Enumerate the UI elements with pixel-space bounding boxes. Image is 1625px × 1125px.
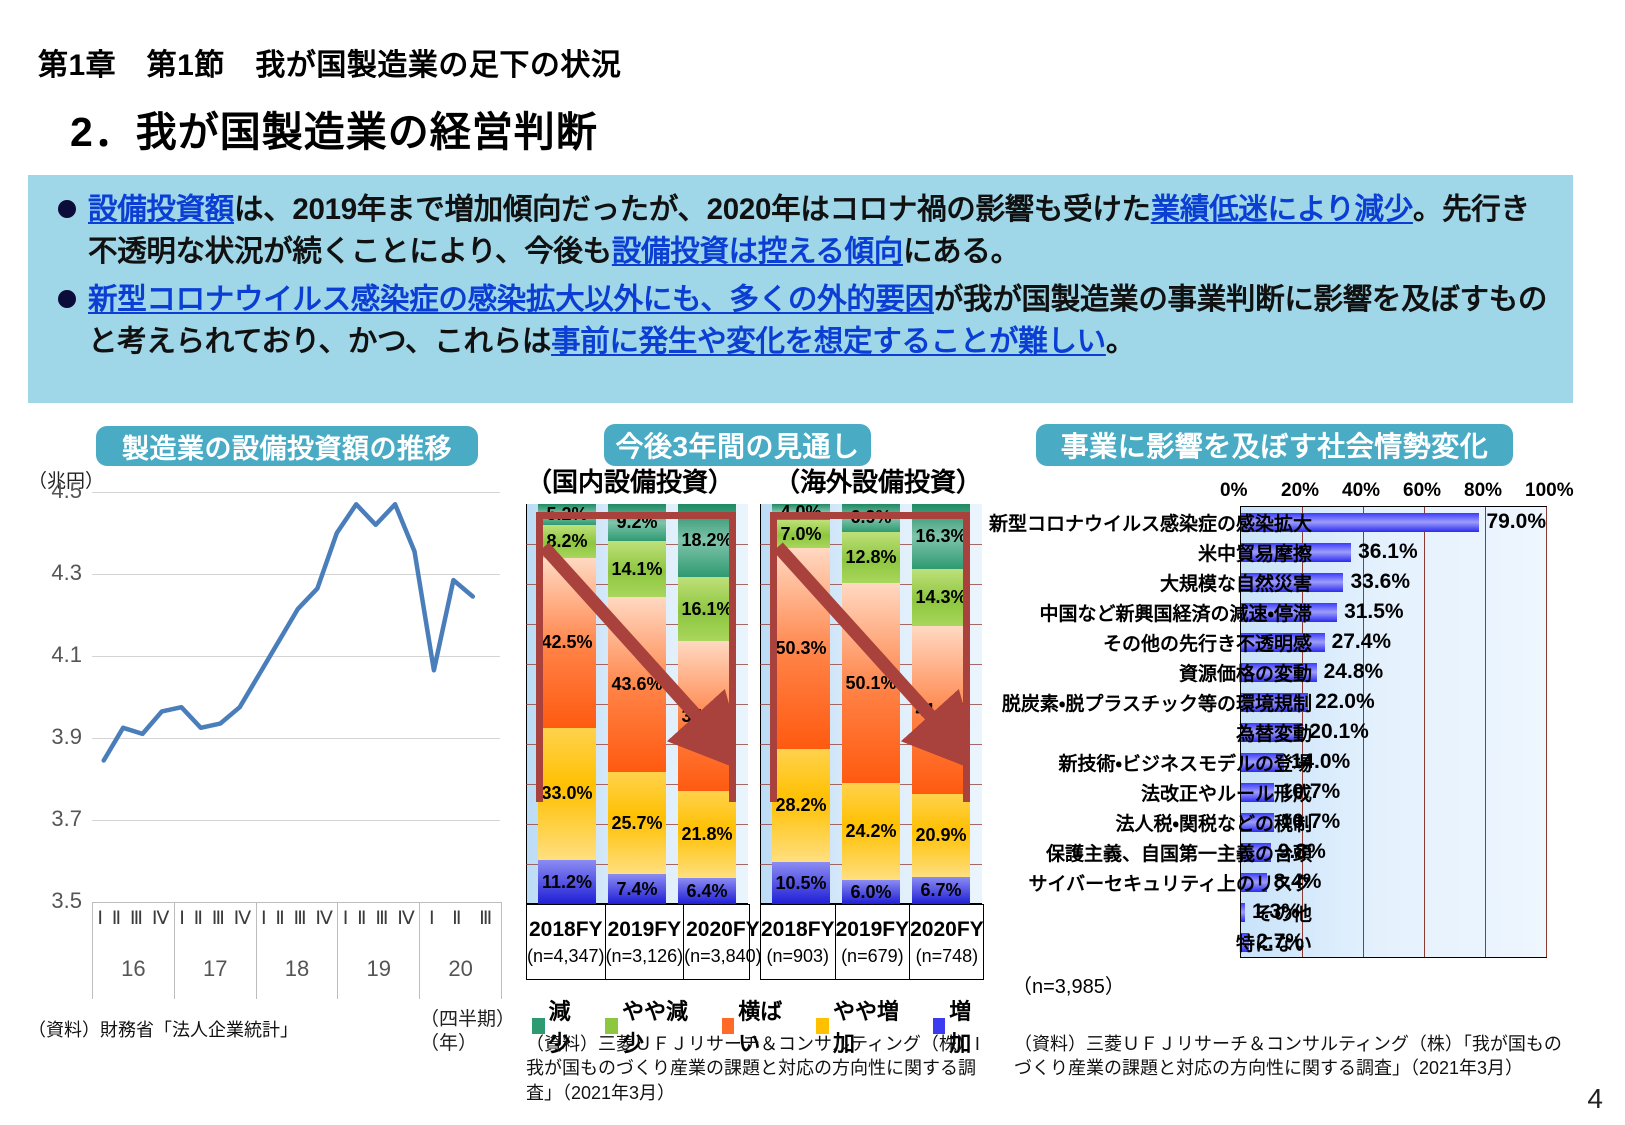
gridline	[1546, 507, 1547, 957]
category-label: 新技術・ビジネスモデルの登場	[982, 749, 1312, 776]
chapter-heading: 第1章 第1節 我が国製造業の足下の状況	[38, 40, 621, 84]
page-number: 4	[1587, 1083, 1603, 1115]
quarter-row: ⅠⅡⅢ	[420, 907, 501, 930]
category-label: 資源価格の変動	[982, 659, 1312, 686]
segment-value-label: 20.9%	[915, 826, 966, 845]
x-tick-label: 40%	[1342, 480, 1380, 502]
category-label: その他	[982, 899, 1312, 926]
year-label: 16	[121, 956, 145, 982]
year-label: 17	[203, 956, 227, 982]
year-label: 19	[367, 956, 391, 982]
bar-value-label: 33.6%	[1350, 570, 1410, 594]
bar-value-label: 20.1%	[1309, 720, 1369, 744]
fy-name: 2019FY	[608, 918, 682, 942]
segment-value-label: 6.4%	[686, 882, 727, 901]
fy-name: 2020FY	[686, 918, 760, 942]
callout-plain: 。	[1106, 325, 1135, 358]
stack-segment-やや増加: 21.8%	[678, 791, 736, 878]
quarter-label: Ⅲ	[294, 907, 307, 930]
quarter-label: Ⅲ	[212, 907, 225, 930]
quarter-axis-table: ⅠⅡⅢⅣ16ⅠⅡⅢⅣ17ⅠⅡⅢⅣ18ⅠⅡⅢⅣ19ⅠⅡⅢ20	[92, 902, 502, 999]
quarter-label: Ⅱ	[357, 907, 366, 930]
quarter-row: ⅠⅡⅢⅣ	[338, 907, 419, 930]
fy-sample-size: (n=903)	[767, 946, 830, 967]
quarter-label: Ⅰ	[429, 907, 435, 930]
stack-segment-やや増加: 20.9%	[912, 794, 970, 878]
quarter-year-cell: ⅠⅡⅢⅣ16	[93, 903, 175, 999]
y-tick-label: 4.1	[30, 642, 82, 668]
stack-segment-増加: 10.5%	[772, 862, 830, 904]
callout-plain: にある。	[903, 235, 1020, 268]
year-label: 18	[285, 956, 309, 982]
x-tick-label: 20%	[1281, 480, 1319, 502]
fy-name: 2018FY	[761, 918, 835, 942]
bar-value-label: 79.0%	[1486, 510, 1546, 534]
fy-labels-domestic: 2018FY(n=4,347)2019FY(n=3,126)2020FY(n=3…	[526, 904, 750, 980]
panel-title-capex-trend: 製造業の設備投資額の推移	[96, 426, 478, 466]
category-label: 特にない	[982, 929, 1312, 956]
segment-value-label: 7.4%	[616, 880, 657, 899]
quarter-label: Ⅰ	[97, 907, 103, 930]
quarter-label: Ⅱ	[275, 907, 284, 930]
left-chart-source: （資料）財務省「法人企業統計」	[28, 1018, 458, 1042]
bullet-dot-icon	[58, 200, 76, 218]
segment-value-label: 24.2%	[845, 822, 896, 841]
quarter-label: Ⅲ	[375, 907, 388, 930]
bar-value-label: 36.1%	[1358, 540, 1418, 564]
quarter-row: ⅠⅡⅢⅣ	[257, 907, 338, 930]
quarter-label: Ⅲ	[130, 907, 143, 930]
fy-label-cell: 2020FY(n=3,840)	[684, 905, 762, 979]
y-tick-label: 3.7	[30, 806, 82, 832]
category-label: サイバーセキュリティ上のリスク	[982, 869, 1312, 896]
fy-name: 2018FY	[529, 918, 603, 942]
y-tick-label: 4.5	[30, 478, 82, 504]
segment-value-label: 11.2%	[542, 873, 592, 892]
callout-bullet-2: 新型コロナウイルス感染症の感染拡大以外にも、多くの外的要因が我が国製造業の事業判…	[50, 279, 1551, 363]
page-title: 2．我が国製造業の経営判断	[70, 98, 598, 158]
bar-value-label: 31.5%	[1344, 600, 1404, 624]
quarter-year-cell: ⅠⅡⅢⅣ17	[175, 903, 257, 999]
quarter-label: Ⅱ	[452, 907, 461, 930]
category-label: 為替変動	[982, 719, 1312, 746]
fy-sample-size: (n=679)	[841, 946, 904, 967]
quarter-year-cell: ⅠⅡⅢⅣ19	[338, 903, 420, 999]
callout-highlight: 事前に発生や変化を想定することが難しい	[551, 325, 1106, 358]
quarter-label: Ⅳ	[152, 907, 170, 930]
quarter-row: ⅠⅡⅢⅣ	[175, 907, 256, 930]
fy-sample-size: (n=3,126)	[606, 946, 684, 967]
quarter-label: Ⅱ	[194, 907, 203, 930]
callout-highlight: 新型コロナウイルス感染症の感染拡大以外にも、多くの外的要因	[88, 283, 934, 316]
mid-chart-source: （資料）三菱ＵＦＪリサーチ＆コンサルティング（株）I我が国ものづくり産業の課題と…	[526, 1032, 981, 1105]
quarter-label: Ⅲ	[479, 907, 492, 930]
category-label: 法改正やルール形成	[982, 779, 1312, 806]
fy-label-cell: 2018FY(n=4,347)	[527, 905, 606, 979]
fy-name: 2019FY	[836, 918, 910, 942]
panel-title-social-change: 事業に影響を及ぼす社会情勢変化	[1036, 424, 1513, 466]
category-label: 保護主義、自国第一主義の台頭	[982, 839, 1312, 866]
bar-value-label: 22.0%	[1315, 690, 1375, 714]
outlook-stacked-bar-charts: （国内設備投資） （海外設備投資） 5.2%8.2%42.5%33.0%11.2…	[512, 462, 992, 1062]
right-chart-source: （資料）三菱ＵＦＪリサーチ＆コンサルティング（株）「我が国ものづくり産業の課題と…	[1014, 1032, 1574, 1081]
bar-value-label: 27.4%	[1332, 630, 1392, 654]
stack-segment-増加: 6.7%	[912, 877, 970, 904]
segment-value-label: 6.0%	[850, 883, 891, 902]
category-label: 法人税・関税などの税制	[982, 809, 1312, 836]
fy-label-cell: 2019FY(n=3,126)	[606, 905, 685, 979]
callout-bullet-2-text: 新型コロナウイルス感染症の感染拡大以外にも、多くの外的要因が我が国製造業の事業判…	[88, 279, 1551, 363]
fy-label-cell: 2018FY(n=903)	[761, 905, 836, 979]
y-tick-label: 3.9	[30, 724, 82, 750]
category-label: 新型コロナウイルス感染症の感染拡大	[982, 509, 1312, 536]
category-label: その他の先行き不透明感	[982, 629, 1312, 656]
callout-highlight: 設備投資は控える傾向	[612, 235, 903, 268]
trend-arrow	[770, 512, 970, 802]
y-tick-label: 4.3	[30, 560, 82, 586]
stack-segment-増加: 6.4%	[678, 878, 736, 904]
panel-title-3yr-outlook: 今後3年間の見通し	[604, 424, 871, 466]
segment-value-label: 10.5%	[775, 874, 826, 893]
quarter-label: Ⅳ	[234, 907, 252, 930]
y-tick-label: 3.5	[30, 888, 82, 914]
callout-highlight: 設備投資額	[88, 193, 234, 226]
fy-sample-size: (n=4,347)	[527, 946, 605, 967]
quarter-label: Ⅱ	[112, 907, 121, 930]
stack-segment-増加: 6.0%	[842, 880, 900, 904]
segment-value-label: 25.7%	[611, 814, 662, 833]
stack-segment-増加: 7.4%	[608, 874, 666, 904]
category-label: 大規模な自然災害	[982, 569, 1312, 596]
quarter-year-cell: ⅠⅡⅢ20	[420, 903, 501, 999]
callout-bullet-1: 設備投資額は、2019年まで増加傾向だったが、2020年はコロナ禍の影響も受けた…	[50, 189, 1551, 273]
bullet-dot-icon	[58, 290, 76, 308]
x-tick-label: 60%	[1403, 480, 1441, 502]
trend-arrow	[536, 512, 736, 802]
callout-plain: は、2019年まで増加傾向だったが、2020年はコロナ禍の影響も受けた	[234, 193, 1151, 226]
year-label: 20	[448, 956, 472, 982]
quarter-label: Ⅳ	[315, 907, 333, 930]
callout-highlight: 業績低迷により減少	[1151, 193, 1413, 226]
social-change-bar-chart: 0%20%40%60%80%100% 79.0%36.1%33.6%31.5%2…	[1000, 462, 1620, 1062]
quarter-label: Ⅰ	[343, 907, 349, 930]
subtitle-overseas: （海外設備投資）	[774, 462, 982, 499]
quarter-label: Ⅰ	[179, 907, 185, 930]
category-label: 中国など新興国経済の減速・停滞	[982, 599, 1312, 626]
quarter-row: ⅠⅡⅢⅣ	[93, 907, 174, 930]
stack-segment-増加: 11.2%	[538, 860, 596, 905]
sample-size-label: （n=3,985）	[1012, 970, 1125, 999]
x-tick-label: 0%	[1220, 480, 1247, 502]
fy-sample-size: (n=748)	[916, 946, 979, 967]
subtitle-domestic: （国内設備投資）	[526, 462, 734, 499]
category-label: 脱炭素・脱プラスチック等の環境規制	[982, 689, 1312, 716]
capex-trend-line-chart: （兆円） 3.53.73.94.14.34.5 ⅠⅡⅢⅣ16ⅠⅡⅢⅣ17ⅠⅡⅢⅣ…	[20, 462, 510, 1062]
x-tick-label: 100%	[1525, 480, 1574, 502]
fy-name: 2020FY	[910, 918, 984, 942]
line-series	[92, 462, 512, 902]
category-label: 米中貿易摩擦	[982, 539, 1312, 566]
fy-sample-size: (n=3,840)	[684, 946, 762, 967]
fy-label-cell: 2020FY(n=748)	[910, 905, 984, 979]
x-tick-label: 80%	[1464, 480, 1502, 502]
callout-bullet-1-text: 設備投資額は、2019年まで増加傾向だったが、2020年はコロナ禍の影響も受けた…	[88, 189, 1551, 273]
quarter-label: Ⅳ	[397, 907, 415, 930]
quarter-year-cell: ⅠⅡⅢⅣ18	[257, 903, 339, 999]
bar-value-label: 24.8%	[1324, 660, 1384, 684]
segment-value-label: 6.7%	[920, 881, 961, 900]
segment-value-label: 21.8%	[681, 825, 732, 844]
summary-callout-box: 設備投資額は、2019年まで増加傾向だったが、2020年はコロナ禍の影響も受けた…	[28, 175, 1573, 403]
fy-labels-overseas: 2018FY(n=903)2019FY(n=679)2020FY(n=748)	[760, 904, 984, 980]
fy-label-cell: 2019FY(n=679)	[836, 905, 911, 979]
quarter-label: Ⅰ	[261, 907, 267, 930]
